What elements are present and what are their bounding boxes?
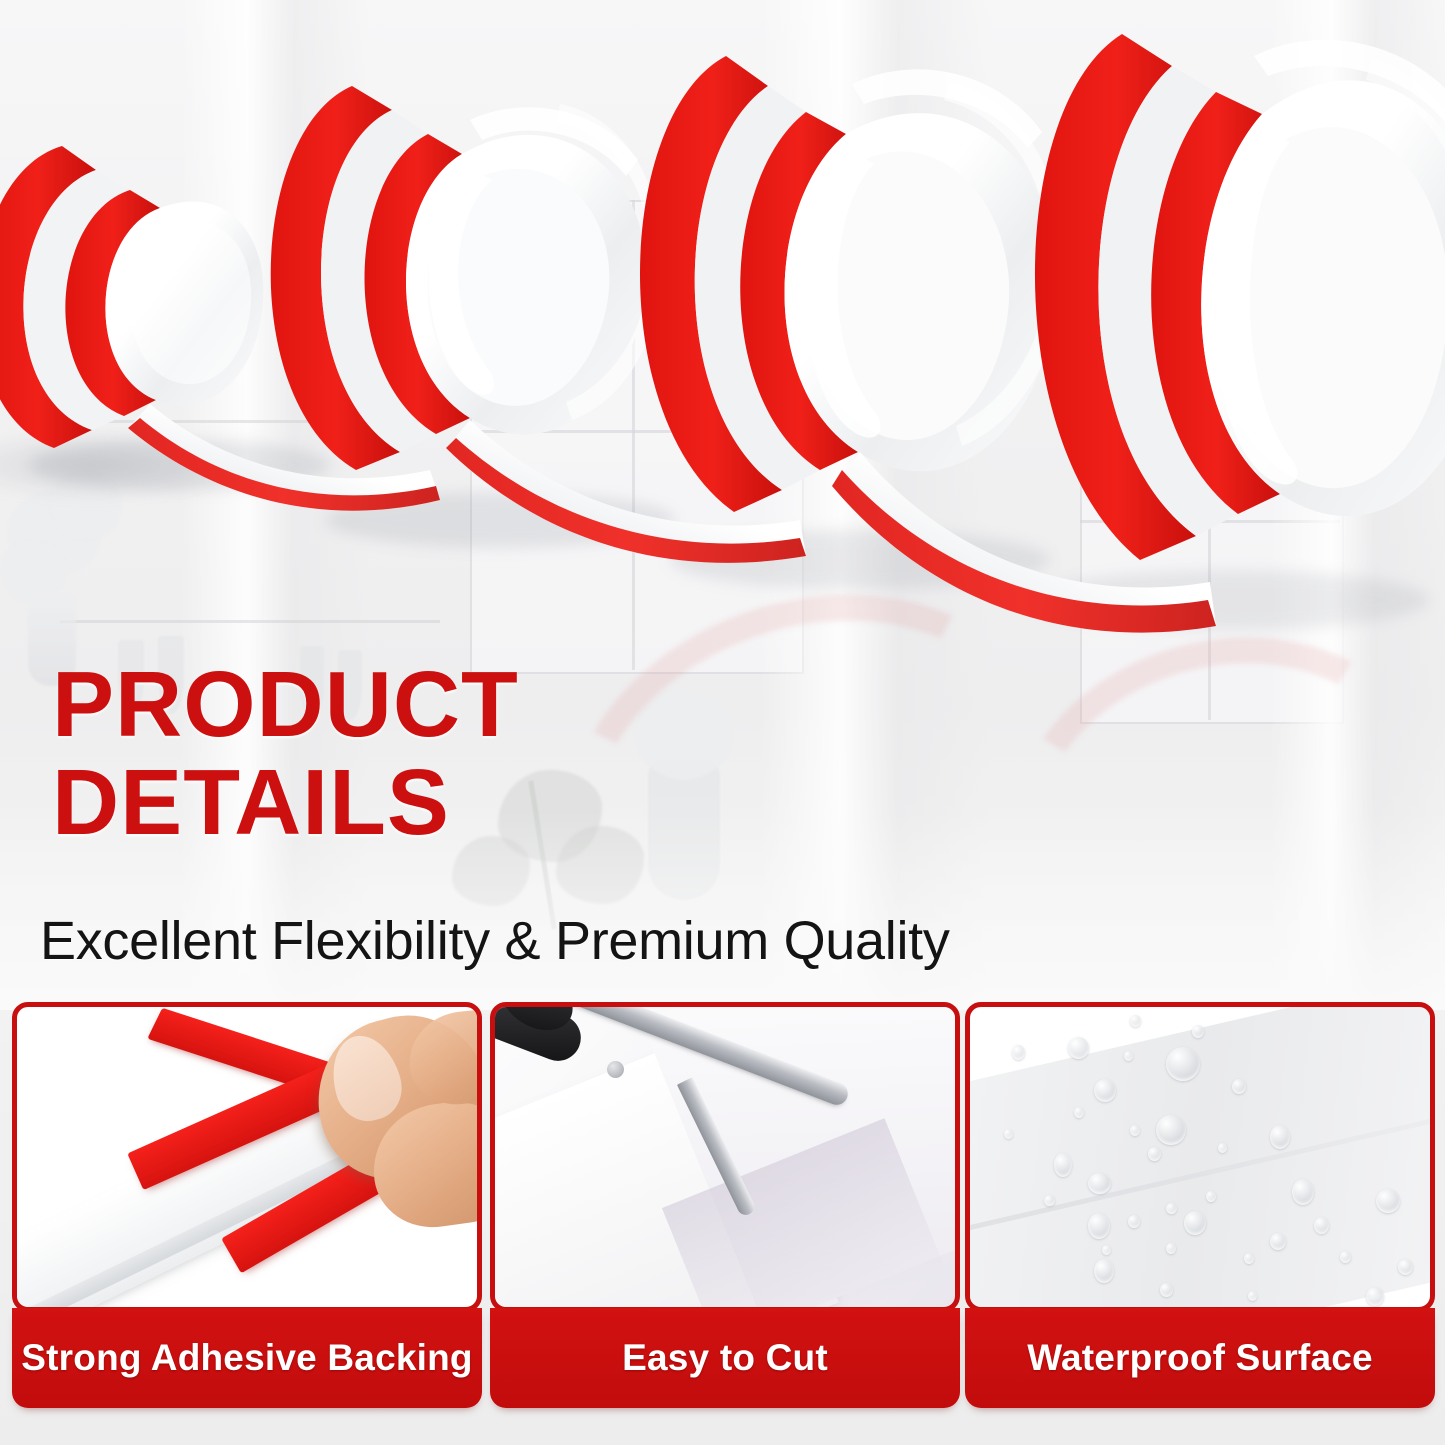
water-droplet	[1166, 1047, 1200, 1081]
feature-caption-text: Strong Adhesive Backing	[21, 1337, 472, 1379]
feature-photo-waterproof	[965, 1002, 1435, 1312]
water-droplet	[1130, 1015, 1141, 1027]
page-title-line-1: PRODUCT	[52, 655, 812, 753]
water-droplet	[1340, 1251, 1351, 1263]
water-droplet	[1248, 1291, 1257, 1301]
water-droplet	[1128, 1215, 1140, 1228]
feature-caption-cut: Easy to Cut	[490, 1308, 960, 1408]
feature-card-waterproof[interactable]: Waterproof Surface	[965, 1002, 1435, 1408]
water-droplet	[1004, 1129, 1013, 1139]
scissor-pivot-screw	[607, 1061, 624, 1078]
water-droplet	[1206, 1191, 1216, 1202]
tape-coil-1	[0, 130, 263, 462]
water-droplet	[1160, 1283, 1173, 1297]
feature-photo-cut	[490, 1002, 960, 1312]
water-droplet	[1102, 1245, 1111, 1255]
water-droplet	[1184, 1211, 1206, 1235]
water-droplet	[1166, 1203, 1177, 1214]
feature-photo-adhesive	[12, 1002, 482, 1312]
feature-caption-waterproof: Waterproof Surface	[965, 1308, 1435, 1408]
water-droplet	[1270, 1233, 1286, 1250]
water-droplet	[1232, 1079, 1246, 1094]
water-droplet	[1044, 1195, 1055, 1206]
water-droplet	[1366, 1287, 1384, 1306]
water-droplet	[1218, 1143, 1227, 1153]
water-droplet	[1124, 1051, 1133, 1061]
water-droplet	[1054, 1153, 1072, 1177]
tape-surface	[965, 1002, 1435, 1312]
feature-caption-text: Waterproof Surface	[1027, 1337, 1373, 1379]
water-droplet	[1012, 1045, 1025, 1060]
water-droplet	[1292, 1179, 1314, 1205]
feature-caption-adhesive: Strong Adhesive Backing	[12, 1308, 482, 1408]
water-droplet	[1376, 1189, 1400, 1213]
water-droplet	[1094, 1079, 1116, 1102]
water-droplet	[1094, 1259, 1114, 1283]
page-subtitle: Excellent Flexibility & Premium Quality	[40, 910, 950, 972]
page-title-line-2: DETAILS	[52, 753, 812, 851]
water-droplet	[1088, 1213, 1110, 1239]
water-droplet	[1314, 1217, 1329, 1234]
water-droplet	[1166, 1243, 1176, 1254]
water-droplet	[1270, 1125, 1290, 1149]
water-droplet	[1074, 1107, 1084, 1118]
water-droplet	[1398, 1259, 1413, 1275]
water-droplet	[1088, 1173, 1111, 1194]
water-droplet	[1192, 1025, 1204, 1038]
feature-caption-text: Easy to Cut	[622, 1337, 828, 1379]
water-droplet	[1156, 1115, 1186, 1145]
feature-panel-group: Strong Adhesive Backing Easy to Cut	[0, 1002, 1445, 1445]
product-detail-infographic: PRODUCT DETAILS Excellent Flexibility & …	[0, 0, 1445, 1445]
water-droplet	[1068, 1037, 1089, 1059]
feature-card-adhesive[interactable]: Strong Adhesive Backing	[12, 1002, 482, 1408]
water-droplet	[1148, 1147, 1161, 1161]
tape-coil-3	[640, 56, 1064, 512]
feature-card-cut[interactable]: Easy to Cut	[490, 1002, 960, 1408]
tape-coil-4	[1035, 34, 1445, 560]
water-droplet	[1130, 1125, 1140, 1136]
water-droplet	[1244, 1253, 1254, 1264]
page-title: PRODUCT DETAILS	[52, 655, 812, 851]
